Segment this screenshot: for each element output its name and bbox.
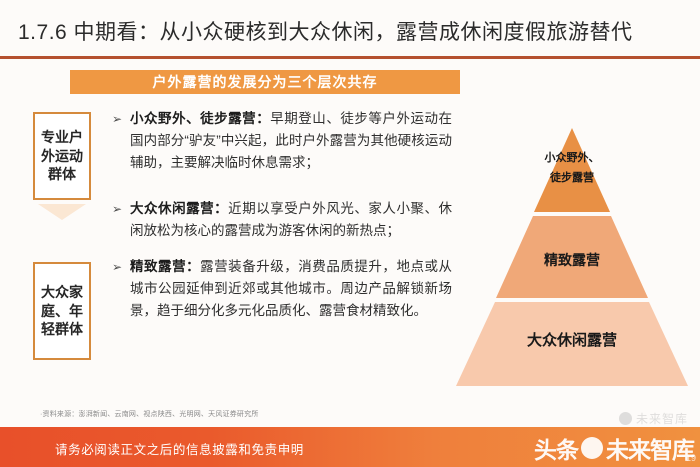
arrow-bullet-icon: ➢ [112, 198, 126, 220]
pyramid-label-top-line2: 徒步露营 [452, 168, 692, 188]
list-item: ➢ 精致露营：露营装备升级，消费品质提升，地点或从城市公园延伸到近郊或其他城市。… [112, 256, 452, 322]
watermark-brand-label: 未来智库 [606, 431, 694, 465]
group-box-mass-label: 大众家庭、年轻群体 [35, 279, 89, 344]
bullet-text: 精致露营：露营装备升级，消费品质提升，地点或从城市公园延伸到近郊或其他城市。周边… [130, 256, 452, 322]
watermark-faint: 未来智库 [619, 410, 688, 427]
footer-bar: 请务必阅读正文之后的信息披露和免责申明 头条 未来智库 19 [0, 427, 700, 467]
bullet-lead: 大众休闲露营： [130, 201, 228, 216]
bullet-lead: 精致露营： [130, 259, 200, 274]
pyramid-label-top: 小众野外、 徒步露营 [452, 148, 692, 188]
pyramid-label-middle: 精致露营 [452, 250, 692, 270]
pyramid-label-top-line1: 小众野外、 [452, 148, 692, 168]
footer-disclaimer: 请务必阅读正文之后的信息披露和免责申明 [55, 439, 304, 458]
page-number: 19 [686, 453, 696, 463]
watermark-logo-icon [619, 412, 632, 425]
pyramid-diagram: 小众野外、 徒步露营 精致露营 大众休闲露营 [452, 126, 692, 388]
group-box-professional: 专业户外运动群体 [33, 112, 91, 200]
watermark-faint-label: 未来智库 [636, 410, 688, 427]
arrow-bullet-icon: ➢ [112, 108, 126, 130]
bullet-list: ➢ 小众野外、徒步露营：早期登山、徒步等户外运动在国内部分“驴友”中兴起，此时户… [112, 108, 452, 336]
funnel-arrow-icon [38, 204, 86, 230]
watermark-headline-label: 头条 [534, 431, 578, 465]
source-note: ·资料来源：澎湃新闻、云南网、视点陕西、光明网、天风证券研究所 [40, 409, 259, 419]
watermark-brand: 头条 未来智库 [534, 431, 694, 465]
list-item: ➢ 大众休闲露营：近期以享受户外风光、家人小聚、休闲放松为核心的露营成为游客休闲… [112, 198, 452, 242]
list-item: ➢ 小众野外、徒步露营：早期登山、徒步等户外运动在国内部分“驴友”中兴起，此时户… [112, 108, 452, 174]
group-box-professional-label: 专业户外运动群体 [35, 124, 89, 189]
title-divider [0, 56, 700, 59]
group-box-mass: 大众家庭、年轻群体 [33, 262, 91, 360]
page-title: 1.7.6 中期看：从小众硬核到大众休闲，露营成休闲度假旅游替代 [18, 16, 633, 46]
bullet-lead: 小众野外、徒步露营： [130, 111, 270, 126]
watermark-circle-icon [581, 437, 603, 459]
bullet-text: 小众野外、徒步露营：早期登山、徒步等户外运动在国内部分“驴友”中兴起，此时户外露… [130, 108, 452, 174]
pyramid-label-bottom: 大众休闲露营 [452, 329, 692, 350]
arrow-bullet-icon: ➢ [112, 256, 126, 278]
bullet-text: 大众休闲露营：近期以享受户外风光、家人小聚、休闲放松为核心的露营成为游客休闲的新… [130, 198, 452, 242]
section-banner: 户外露营的发展分为三个层次共存 [70, 70, 460, 94]
